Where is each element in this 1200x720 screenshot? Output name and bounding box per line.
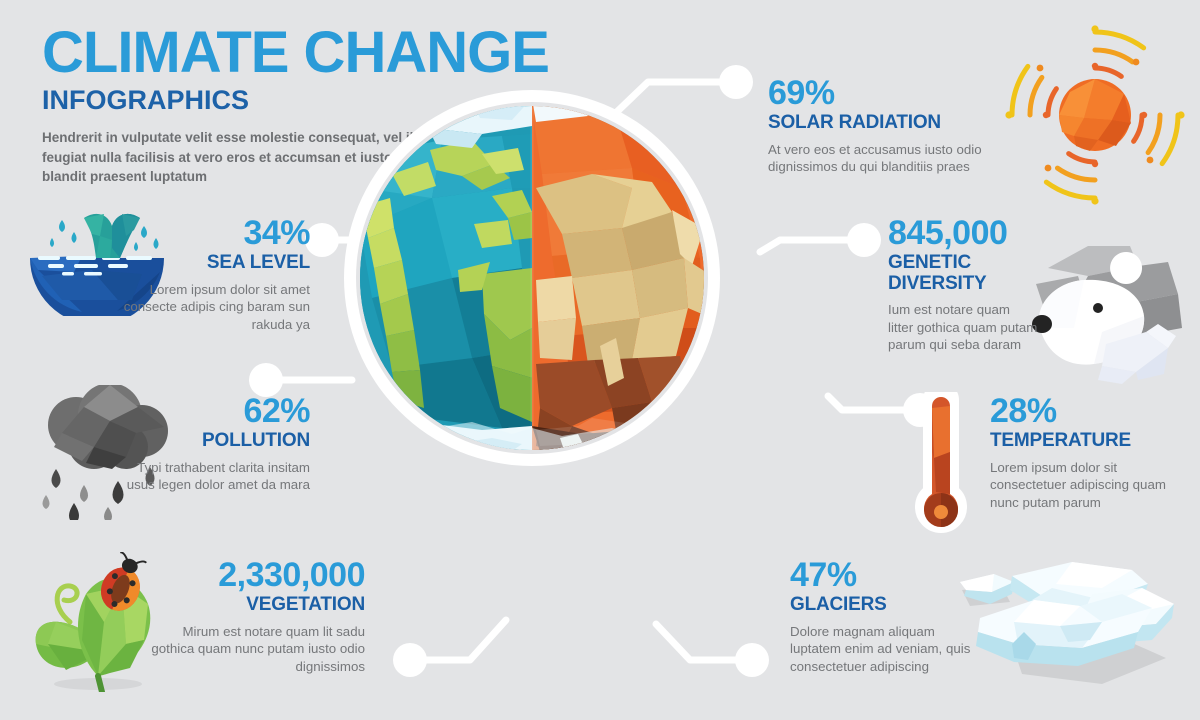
stat-glaciers: 47% GLACIERS Dolore magnam aliquam lupta… <box>790 558 980 676</box>
stat-label-vegetation: VEGETATION <box>150 595 365 616</box>
page-title: CLIMATE CHANGE <box>42 26 562 79</box>
stat-temperature: 28% TEMPERATURE Lorem ipsum dolor sit co… <box>990 394 1180 512</box>
stat-pollution: 62% POLLUTION Typi trathabent clarita in… <box>110 394 310 494</box>
polar-bear-icon <box>1018 232 1193 387</box>
stat-value-genetic-diversity: 845,000 <box>888 216 1038 250</box>
connector-node-genetic-diversity <box>847 223 881 257</box>
stat-body-vegetation: Mirum est notare quam lit sadu gothica q… <box>150 623 365 676</box>
stat-label-glaciers: GLACIERS <box>790 595 980 616</box>
stat-body-solar-radiation: At vero eos et accusamus iusto odio dign… <box>768 141 983 176</box>
stat-label-sea-level: SEA LEVEL <box>100 253 310 274</box>
globe-illustration <box>332 78 732 478</box>
stat-body-temperature: Lorem ipsum dolor sit consectetuer adipi… <box>990 459 1180 512</box>
stat-sea-level: 34% SEA LEVEL Lorem ipsum dolor sit amet… <box>100 216 310 334</box>
stat-value-glaciers: 47% <box>790 558 980 592</box>
stat-value-pollution: 62% <box>110 394 310 428</box>
stat-value-solar-radiation: 69% <box>768 76 983 110</box>
stat-body-genetic-diversity: Ium est notare quam litter gothica quam … <box>888 301 1038 354</box>
stat-body-sea-level: Lorem ipsum dolor sit amet consecte adip… <box>100 281 310 334</box>
stat-value-temperature: 28% <box>990 394 1180 428</box>
connector-node-vegetation <box>393 643 427 677</box>
stat-vegetation: 2,330,000 VEGETATION Mirum est notare qu… <box>150 558 365 676</box>
connector-node-glaciers <box>735 643 769 677</box>
stat-genetic-diversity: 845,000 GENETIC DIVERSITY Ium est notare… <box>888 216 1038 354</box>
stat-value-sea-level: 34% <box>100 216 310 250</box>
stat-body-pollution: Typi trathabent clarita insitam usus leg… <box>110 459 310 494</box>
infographic-canvas: CLIMATE CHANGE INFOGRAPHICS Hendrerit in… <box>0 0 1200 720</box>
stat-label-solar-radiation: SOLAR RADIATION <box>768 113 983 134</box>
thermometer-icon <box>906 392 976 542</box>
stat-label-genetic-diversity: GENETIC DIVERSITY <box>888 253 1038 294</box>
stat-solar-radiation: 69% SOLAR RADIATION At vero eos et accus… <box>768 76 983 176</box>
stat-label-pollution: POLLUTION <box>110 431 310 452</box>
sun-icon <box>1000 20 1190 210</box>
stat-value-vegetation: 2,330,000 <box>150 558 365 592</box>
stat-label-temperature: TEMPERATURE <box>990 431 1180 452</box>
stat-body-glaciers: Dolore magnam aliquam luptatem enim ad v… <box>790 623 980 676</box>
iceberg-icon <box>952 548 1182 693</box>
